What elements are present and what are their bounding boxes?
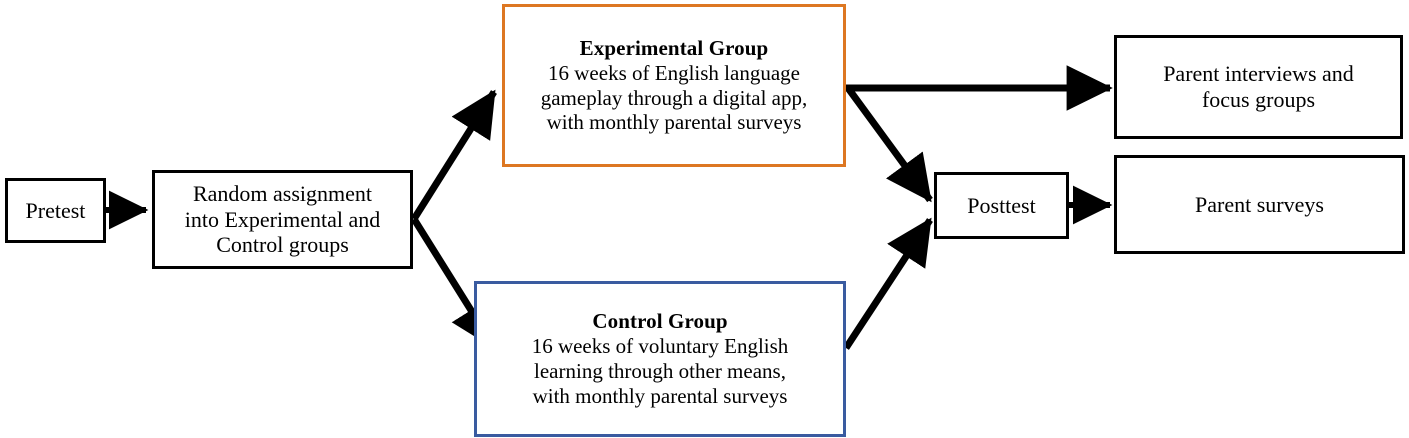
edge-control-to-posttest [846,220,930,348]
node-parent-surveys[interactable]: Parent surveys [1114,155,1405,254]
node-experimental-group-title: Experimental Group [580,36,769,61]
node-experimental-group-line-2: gameplay through a digital app, [541,86,808,111]
node-random-assignment[interactable]: Random assignment into Experimental and … [152,170,413,269]
node-control-group-title: Control Group [592,309,727,334]
node-experimental-group-line-3: with monthly parental surveys [547,110,802,135]
flowchart-diagram: Pretest Random assignment into Experimen… [0,0,1409,438]
node-random-assignment-line-3: Control groups [216,232,349,258]
node-control-group-line-2: learning through other means, [534,359,786,384]
node-random-assignment-line-2: into Experimental and [185,207,381,233]
node-parent-interviews[interactable]: Parent interviews and focus groups [1114,35,1403,139]
node-control-group-line-1: 16 weeks of voluntary English [532,334,789,359]
edge-experimental-to-posttest [848,88,930,200]
edge-random-assignment-to-experimental [414,92,494,219]
node-random-assignment-line-1: Random assignment [193,181,372,207]
node-parent-surveys-label: Parent surveys [1195,192,1324,218]
node-control-group[interactable]: Control Group 16 weeks of voluntary Engl… [474,281,846,437]
node-control-group-line-3: with monthly parental surveys [533,384,788,409]
node-parent-interviews-line-2: focus groups [1202,87,1315,113]
node-experimental-group[interactable]: Experimental Group 16 weeks of English l… [502,4,846,167]
node-parent-interviews-line-1: Parent interviews and [1163,61,1354,87]
node-experimental-group-line-1: 16 weeks of English language [548,61,800,86]
node-posttest-label: Posttest [967,193,1035,219]
node-pretest-label: Pretest [26,198,86,224]
node-posttest[interactable]: Posttest [934,172,1069,239]
node-pretest[interactable]: Pretest [5,178,106,243]
